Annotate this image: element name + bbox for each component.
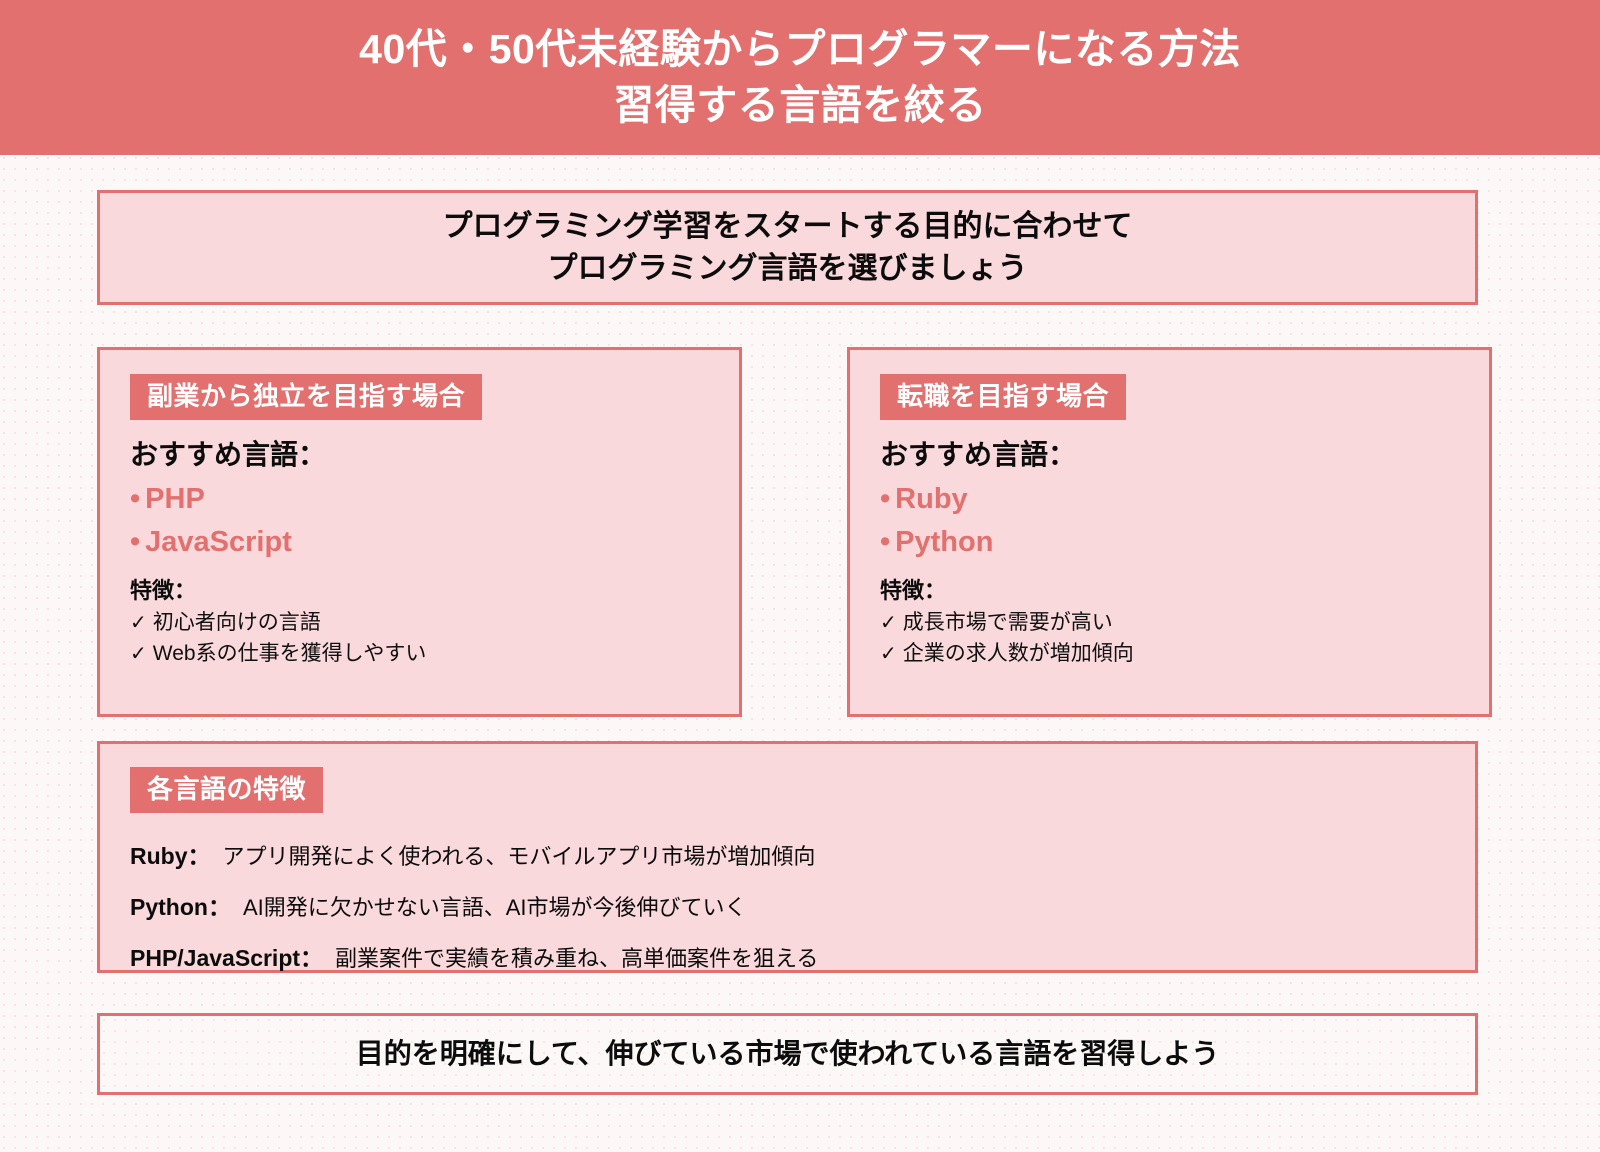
recommended-languages-heading: おすすめ言語： <box>880 438 1459 472</box>
feature-list-item: ✓初心者向けの言語 <box>130 607 709 639</box>
feature-list-item: ✓成長市場で需要が高い <box>880 607 1459 639</box>
language-detail-description: アプリ開発によく使われる、モバイルアプリ市場が増加傾向 <box>223 844 816 869</box>
bullet-icon: • <box>130 526 140 558</box>
page-header: 40代・50代未経験からプログラマーになる方法 習得する言語を絞る <box>0 0 1600 155</box>
language-list-item: •Python <box>880 528 1459 557</box>
language-detail-colon: ： <box>300 945 323 971</box>
language-detail-name: PHP/JavaScript <box>130 945 300 971</box>
feature-list-item: ✓Web系の仕事を獲得しやすい <box>130 638 709 670</box>
recommended-languages-list: •PHP •JavaScript <box>130 485 709 557</box>
intro-banner: プログラミング学習をスタートする目的に合わせて プログラミング言語を選びましょう <box>97 190 1478 305</box>
header-title-line-1: 40代・50代未経験からプログラマーになる方法 <box>359 22 1241 77</box>
language-detail-colon: ： <box>188 843 211 869</box>
recommended-languages-list: •Ruby •Python <box>880 485 1459 557</box>
features-list: ✓初心者向けの言語 ✓Web系の仕事を獲得しやすい <box>130 607 709 670</box>
conclusion-banner: 目的を明確にして、伸びている市場で使われている言語を習得しよう <box>97 1013 1478 1095</box>
language-list-item: •JavaScript <box>130 528 709 557</box>
feature-list-item: ✓企業の求人数が増加傾向 <box>880 638 1459 670</box>
intro-banner-line-2: プログラミング言語を選びましょう <box>548 248 1028 290</box>
features-heading: 特徴： <box>130 577 709 605</box>
language-detail-row: Ruby：アプリ開発によく使われる、モバイルアプリ市場が増加傾向 <box>130 845 1445 868</box>
check-icon: ✓ <box>130 612 147 634</box>
recommended-languages-heading: おすすめ言語： <box>130 438 709 472</box>
language-list-item: •PHP <box>130 485 709 514</box>
bullet-icon: • <box>880 526 890 558</box>
language-name: JavaScript <box>145 526 292 558</box>
detail-panel-chip-label: 各言語の特徴 <box>130 767 323 813</box>
card-career-change: 転職を目指す場合 おすすめ言語： •Ruby •Python 特徴： ✓成長市場… <box>847 347 1492 717</box>
language-detail-row: PHP/JavaScript：副業案件で実績を積み重ね、高単価案件を狙える <box>130 947 1445 970</box>
language-detail-row: Python：AI開発に欠かせない言語、AI市場が今後伸びていく <box>130 896 1445 919</box>
card-side-business-independence: 副業から独立を目指す場合 おすすめ言語： •PHP •JavaScript 特徴… <box>97 347 742 717</box>
check-icon: ✓ <box>880 612 897 634</box>
feature-text: 成長市場で需要が高い <box>903 611 1113 634</box>
language-list-item: •Ruby <box>880 485 1459 514</box>
feature-text: 企業の求人数が増加傾向 <box>903 642 1134 665</box>
language-name: Ruby <box>895 483 968 515</box>
intro-banner-line-1: プログラミング学習をスタートする目的に合わせて <box>443 206 1133 248</box>
feature-text: 初心者向けの言語 <box>153 611 321 634</box>
features-list: ✓成長市場で需要が高い ✓企業の求人数が増加傾向 <box>880 607 1459 670</box>
language-detail-name: Ruby <box>130 843 188 869</box>
bullet-icon: • <box>130 483 140 515</box>
language-detail-colon: ： <box>208 894 231 920</box>
feature-text: Web系の仕事を獲得しやすい <box>153 642 427 665</box>
language-details-panel: 各言語の特徴 Ruby：アプリ開発によく使われる、モバイルアプリ市場が増加傾向 … <box>97 741 1478 973</box>
bullet-icon: • <box>880 483 890 515</box>
check-icon: ✓ <box>130 643 147 665</box>
card-chip-label: 転職を目指す場合 <box>880 374 1126 420</box>
card-chip-label: 副業から独立を目指す場合 <box>130 374 482 420</box>
conclusion-text: 目的を明確にして、伸びている市場で使われている言語を習得しよう <box>356 1037 1220 1071</box>
language-details-list: Ruby：アプリ開発によく使われる、モバイルアプリ市場が増加傾向 Python：… <box>130 845 1445 970</box>
language-name: PHP <box>145 483 205 515</box>
language-name: Python <box>895 526 993 558</box>
features-heading: 特徴： <box>880 577 1459 605</box>
language-detail-description: AI開発に欠かせない言語、AI市場が今後伸びていく <box>243 895 747 920</box>
language-detail-description: 副業案件で実績を積み重ね、高単価案件を狙える <box>335 946 818 971</box>
header-title-line-2: 習得する言語を絞る <box>613 78 987 133</box>
check-icon: ✓ <box>880 643 897 665</box>
language-detail-name: Python <box>130 894 208 920</box>
